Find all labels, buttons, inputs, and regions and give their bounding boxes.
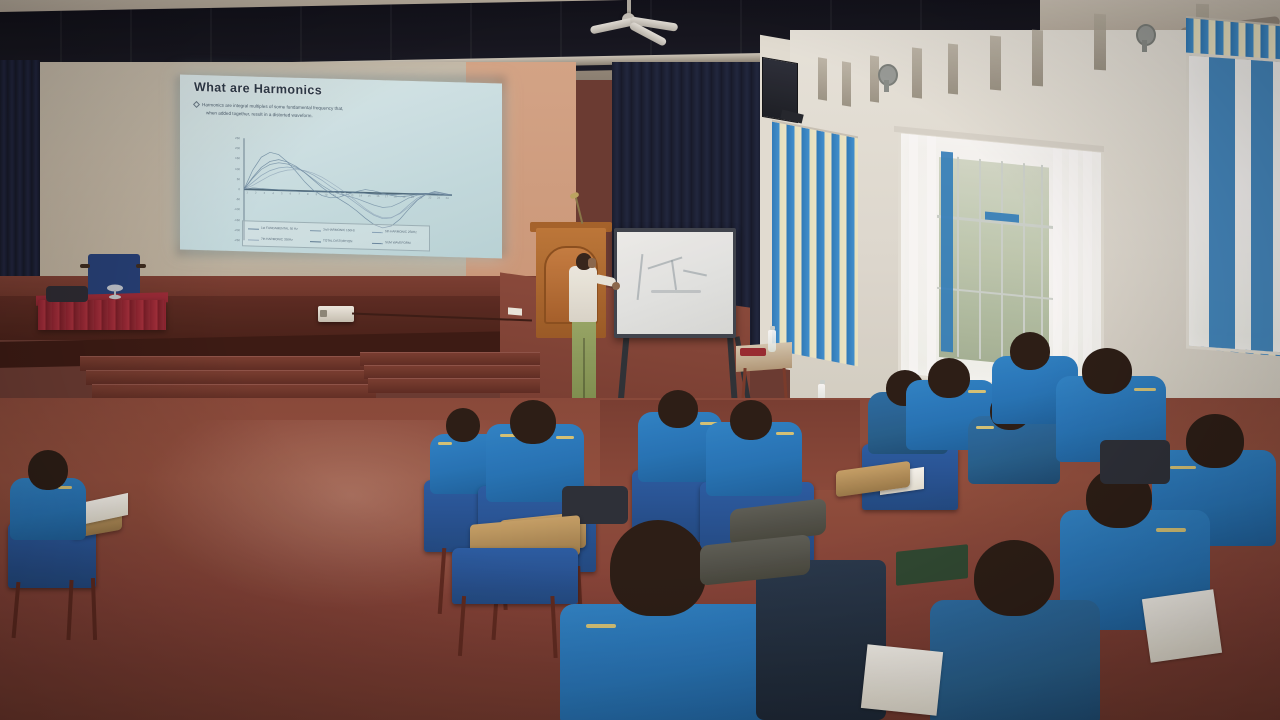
stage-curtain-left [0,60,40,290]
head [28,450,68,490]
whiteboard[interactable] [614,228,736,338]
legend-label: 7th HARMONIC 350Hz [261,237,293,242]
head [1010,332,1050,370]
head [510,400,556,444]
uniform-shirt [560,604,780,720]
legend-swatch [310,241,321,242]
stage-steps-center [360,352,540,402]
paper-on-stage [508,307,522,315]
head [658,390,698,428]
legend-swatch [372,232,383,233]
wall-vent [912,47,922,98]
bullet-marker [193,101,200,108]
chart-legend: 1st FUNDAMENTAL 50 Hz3rd HARMONIC 150Hz5… [242,220,430,251]
slide-title: What are Harmonics [194,80,322,98]
legend-label: TOTAL DISTORTION [323,238,352,243]
presenter-hand [612,282,620,290]
presenter-trousers [572,318,596,406]
head [1186,414,1244,468]
legend-label: 5th HARMONIC 250Hz [385,229,417,234]
projection-screen: What are Harmonics Harmonics are integra… [180,75,502,259]
legend-swatch [248,239,259,240]
head [928,358,970,398]
wall-vent [1094,14,1106,71]
slide-bullet-line-2: when added together, result in a distort… [206,111,313,119]
wall-vent [842,61,851,106]
wall-vent [870,55,879,102]
stage-table [38,300,166,330]
head [446,408,480,442]
legend-label: SUM WAVEFORM [385,240,411,245]
legend-swatch [310,230,321,231]
head [610,520,706,616]
legend-swatch [248,228,259,229]
presenter-face [588,258,596,268]
presenter-shirt [569,266,597,322]
vertical-blinds-left [772,120,858,367]
audience-member [8,448,148,638]
side-table-cloth [740,348,766,356]
projector [318,306,354,322]
paper-notes [861,644,943,716]
wall-fan-bracket [1142,40,1147,52]
paper-notes [1142,589,1222,662]
legend-label: 1st FUNDAMENTAL 50 Hz [261,226,298,231]
bag-on-table [46,286,88,302]
legend-swatch [372,243,383,244]
wall-vent [990,36,1001,91]
wall-vent [948,43,958,94]
water-bottle [768,330,776,352]
wall-fan-bracket [884,80,889,92]
trophy-on-table [104,282,126,300]
window-right [1186,53,1280,356]
wall-vent [818,57,827,100]
head [730,400,772,440]
slide-bullet-list: Harmonics are integral multiples of some… [202,101,452,125]
lecture-hall-photo: What are Harmonics Harmonics are integra… [0,0,1280,720]
head [1082,348,1132,394]
bag [1100,440,1170,484]
uniform-shirt [930,600,1100,720]
legend-label: 3rd HARMONIC 150Hz [323,227,355,232]
wall-vent [1032,30,1043,87]
head [974,540,1054,616]
